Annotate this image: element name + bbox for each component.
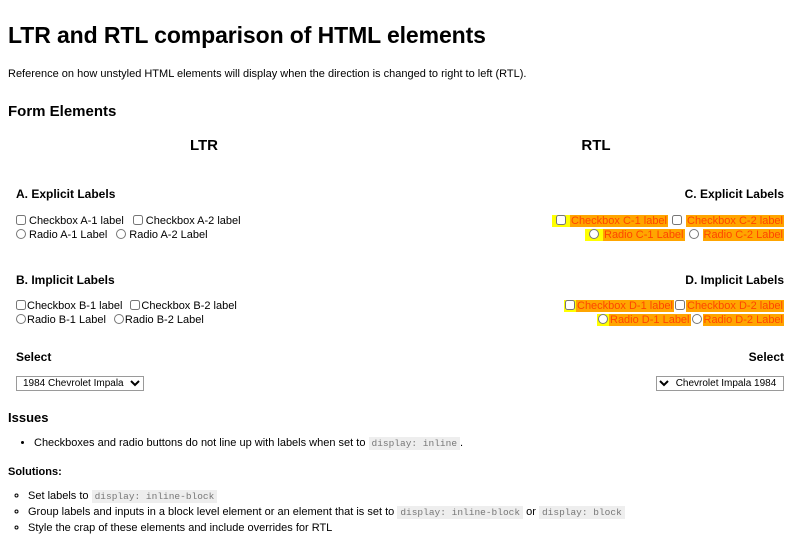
group-title-a-explicit: A. Explicit Labels [16,186,392,202]
page-title: LTR and RTL comparison of HTML elements [8,20,792,51]
issue-item-1-post: . [460,437,463,449]
page-root: LTR and RTL comparison of HTML elements … [0,0,800,537]
page-intro: Reference on how unstyled HTML elements … [8,67,792,82]
ltr-implicit-radio-row: Radio B-1 LabelRadio B-2 Label [16,314,392,327]
solutions-heading: Solutions: [8,465,792,480]
checkbox-d-1-label[interactable]: Checkbox D-1 label [576,300,674,312]
checkbox-c-2[interactable] [556,215,566,225]
checkbox-b-1-text: Checkbox B-1 label [27,300,122,312]
radio-c-1-label[interactable]: Radio C-1 Label [603,229,685,241]
section-heading-form-elements: Form Elements [8,102,792,122]
group-title-d-implicit: D. Implicit Labels [408,272,784,288]
radio-d-1[interactable] [692,314,702,324]
radio-a-1[interactable] [16,229,26,239]
checkbox-c-1-label[interactable]: Checkbox C-1 label [570,215,668,227]
ltr-explicit-radio-row: Radio A-1 LabelRadio A-2 Label [16,229,392,242]
radio-d-1-label[interactable]: Radio D-1 Label [609,314,691,326]
solution-item-1: Set labels to display: inline-block [28,489,792,505]
rtl-explicit-checkbox-row: Checkbox C-1 labelCheckbox C-2 label [408,215,784,228]
checkbox-a-1-label[interactable]: Checkbox A-1 label [29,215,124,227]
ltr-implicit-checkbox-row: Checkbox B-1 labelCheckbox B-2 label [16,300,392,313]
checkbox-b-1[interactable] [16,300,26,310]
checkbox-d-1-text: Checkbox D-1 label [577,300,673,312]
radio-a-2-label[interactable]: Radio A-2 Label [129,229,207,241]
checkbox-d-2[interactable] [565,300,575,310]
solution-item-1-pre: Set labels to [28,490,89,502]
select-title-rtl: Select [408,349,784,365]
comparison-columns: LTR A. Explicit Labels Checkbox A-1 labe… [8,136,792,391]
rtl-implicit-checkbox-row: Checkbox D-1 labelCheckbox D-2 label [408,300,784,313]
solution-item-2-code-b: display: block [539,506,625,519]
checkbox-a-2[interactable] [133,215,143,225]
ltr-implicit-fields: Checkbox B-1 labelCheckbox B-2 label Rad… [16,300,392,327]
column-heading-ltr: LTR [16,136,392,156]
radio-b-2-label[interactable]: Radio B-2 Label [114,314,204,326]
select-wrap-ltr: 1984 Chevrolet Impala [16,376,392,391]
radio-d-2-label[interactable]: Radio D-2 Label [703,314,785,326]
radio-b-2[interactable] [114,314,124,324]
radio-a-1-label[interactable]: Radio A-1 Label [29,229,107,241]
checkbox-b-1-label[interactable]: Checkbox B-1 label [16,300,122,312]
checkbox-c-1[interactable] [672,215,682,225]
radio-d-2[interactable] [598,314,608,324]
checkbox-b-2-label[interactable]: Checkbox B-2 label [130,300,236,312]
solution-item-2-code-a: display: inline-block [397,506,523,519]
solution-item-3: Style the crap of these elements and inc… [28,521,792,537]
solution-item-2-mid: or [526,506,536,518]
radio-a-2[interactable] [116,229,126,239]
radio-b-2-text: Radio B-2 Label [125,314,204,326]
checkbox-d-1[interactable] [675,300,685,310]
checkbox-b-2-text: Checkbox B-2 label [141,300,236,312]
group-title-c-explicit: C. Explicit Labels [408,186,784,202]
select-rtl[interactable]: Chevrolet Impala 1984 [656,376,784,391]
checkbox-b-2[interactable] [130,300,140,310]
issue-item-1-code: display: inline [369,437,461,450]
rtl-implicit-fields: Checkbox D-1 labelCheckbox D-2 label Rad… [408,300,784,327]
issues-heading: Issues [8,409,792,427]
rtl-explicit-radio-row: Radio C-1 LabelRadio C-2 Label [408,229,784,242]
group-title-b-implicit: B. Implicit Labels [16,272,392,288]
column-rtl: RTL C. Explicit Labels Checkbox C-1 labe… [400,136,792,391]
select-ltr[interactable]: 1984 Chevrolet Impala [16,376,144,391]
radio-c-2[interactable] [589,229,599,239]
column-heading-rtl: RTL [408,136,784,156]
solution-item-1-code: display: inline-block [92,490,218,503]
radio-c-1[interactable] [689,229,699,239]
solution-item-2: Group labels and inputs in a block level… [28,505,792,521]
radio-b-1-label[interactable]: Radio B-1 Label [16,314,106,326]
rtl-implicit-radio-row: Radio D-1 LabelRadio D-2 Label [408,314,784,327]
issue-item-1: Checkboxes and radio buttons do not line… [34,436,792,451]
checkbox-c-2-label[interactable]: Checkbox C-2 label [686,215,784,227]
checkbox-d-2-label[interactable]: Checkbox D-2 label [686,300,784,312]
checkbox-a-1[interactable] [16,215,26,225]
column-ltr: LTR A. Explicit Labels Checkbox A-1 labe… [8,136,400,391]
issues-list: Checkboxes and radio buttons do not line… [8,436,792,451]
radio-b-1-text: Radio B-1 Label [27,314,106,326]
radio-c-2-label[interactable]: Radio C-2 Label [703,229,785,241]
select-wrap-rtl: Chevrolet Impala 1984 [408,376,784,391]
solutions-list: Set labels to display: inline-block Grou… [8,489,792,537]
ltr-explicit-checkbox-row: Checkbox A-1 labelCheckbox A-2 label [16,215,392,228]
ltr-explicit-fields: Checkbox A-1 labelCheckbox A-2 label Rad… [16,215,392,242]
solution-item-2-pre: Group labels and inputs in a block level… [28,506,394,518]
rtl-explicit-fields: Checkbox C-1 labelCheckbox C-2 label Rad… [408,215,784,242]
checkbox-a-2-label[interactable]: Checkbox A-2 label [146,215,241,227]
radio-b-1[interactable] [16,314,26,324]
issue-item-1-pre: Checkboxes and radio buttons do not line… [34,437,365,449]
select-title-ltr: Select [16,349,392,365]
